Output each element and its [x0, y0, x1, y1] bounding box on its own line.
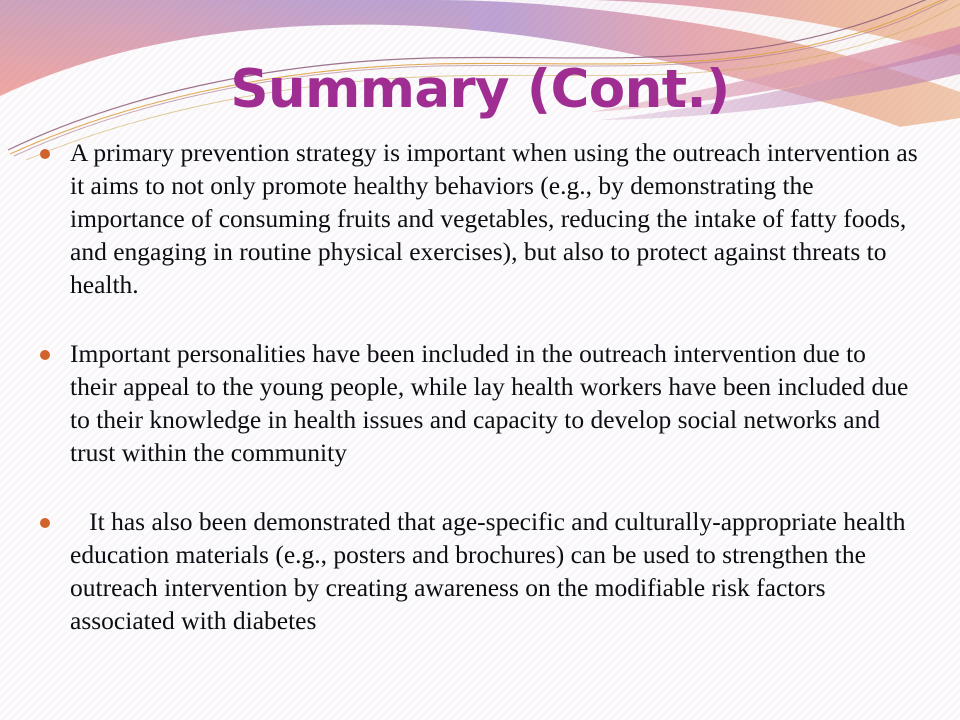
presentation-slide: Summary (Cont.) A primary prevention str…	[0, 0, 960, 720]
bullet-marker	[40, 337, 70, 360]
list-item: It has also been demonstrated that age-s…	[0, 505, 960, 637]
bullet-text: Important personalities have been includ…	[70, 337, 918, 469]
list-item: A primary prevention strategy is importa…	[0, 136, 960, 301]
bullet-marker	[40, 505, 70, 528]
list-item: Important personalities have been includ…	[0, 337, 960, 469]
bullet-dot-icon	[40, 518, 50, 528]
bullet-text: A primary prevention strategy is importa…	[70, 136, 918, 301]
bullet-dot-icon	[40, 350, 50, 360]
bullet-marker	[40, 136, 70, 159]
bullet-text: It has also been demonstrated that age-s…	[70, 505, 918, 637]
bullet-dot-icon	[40, 149, 50, 159]
page-title: Summary (Cont.)	[230, 62, 729, 118]
page-title-container: Summary (Cont.)	[0, 62, 960, 118]
slide-body: A primary prevention strategy is importa…	[0, 136, 960, 637]
